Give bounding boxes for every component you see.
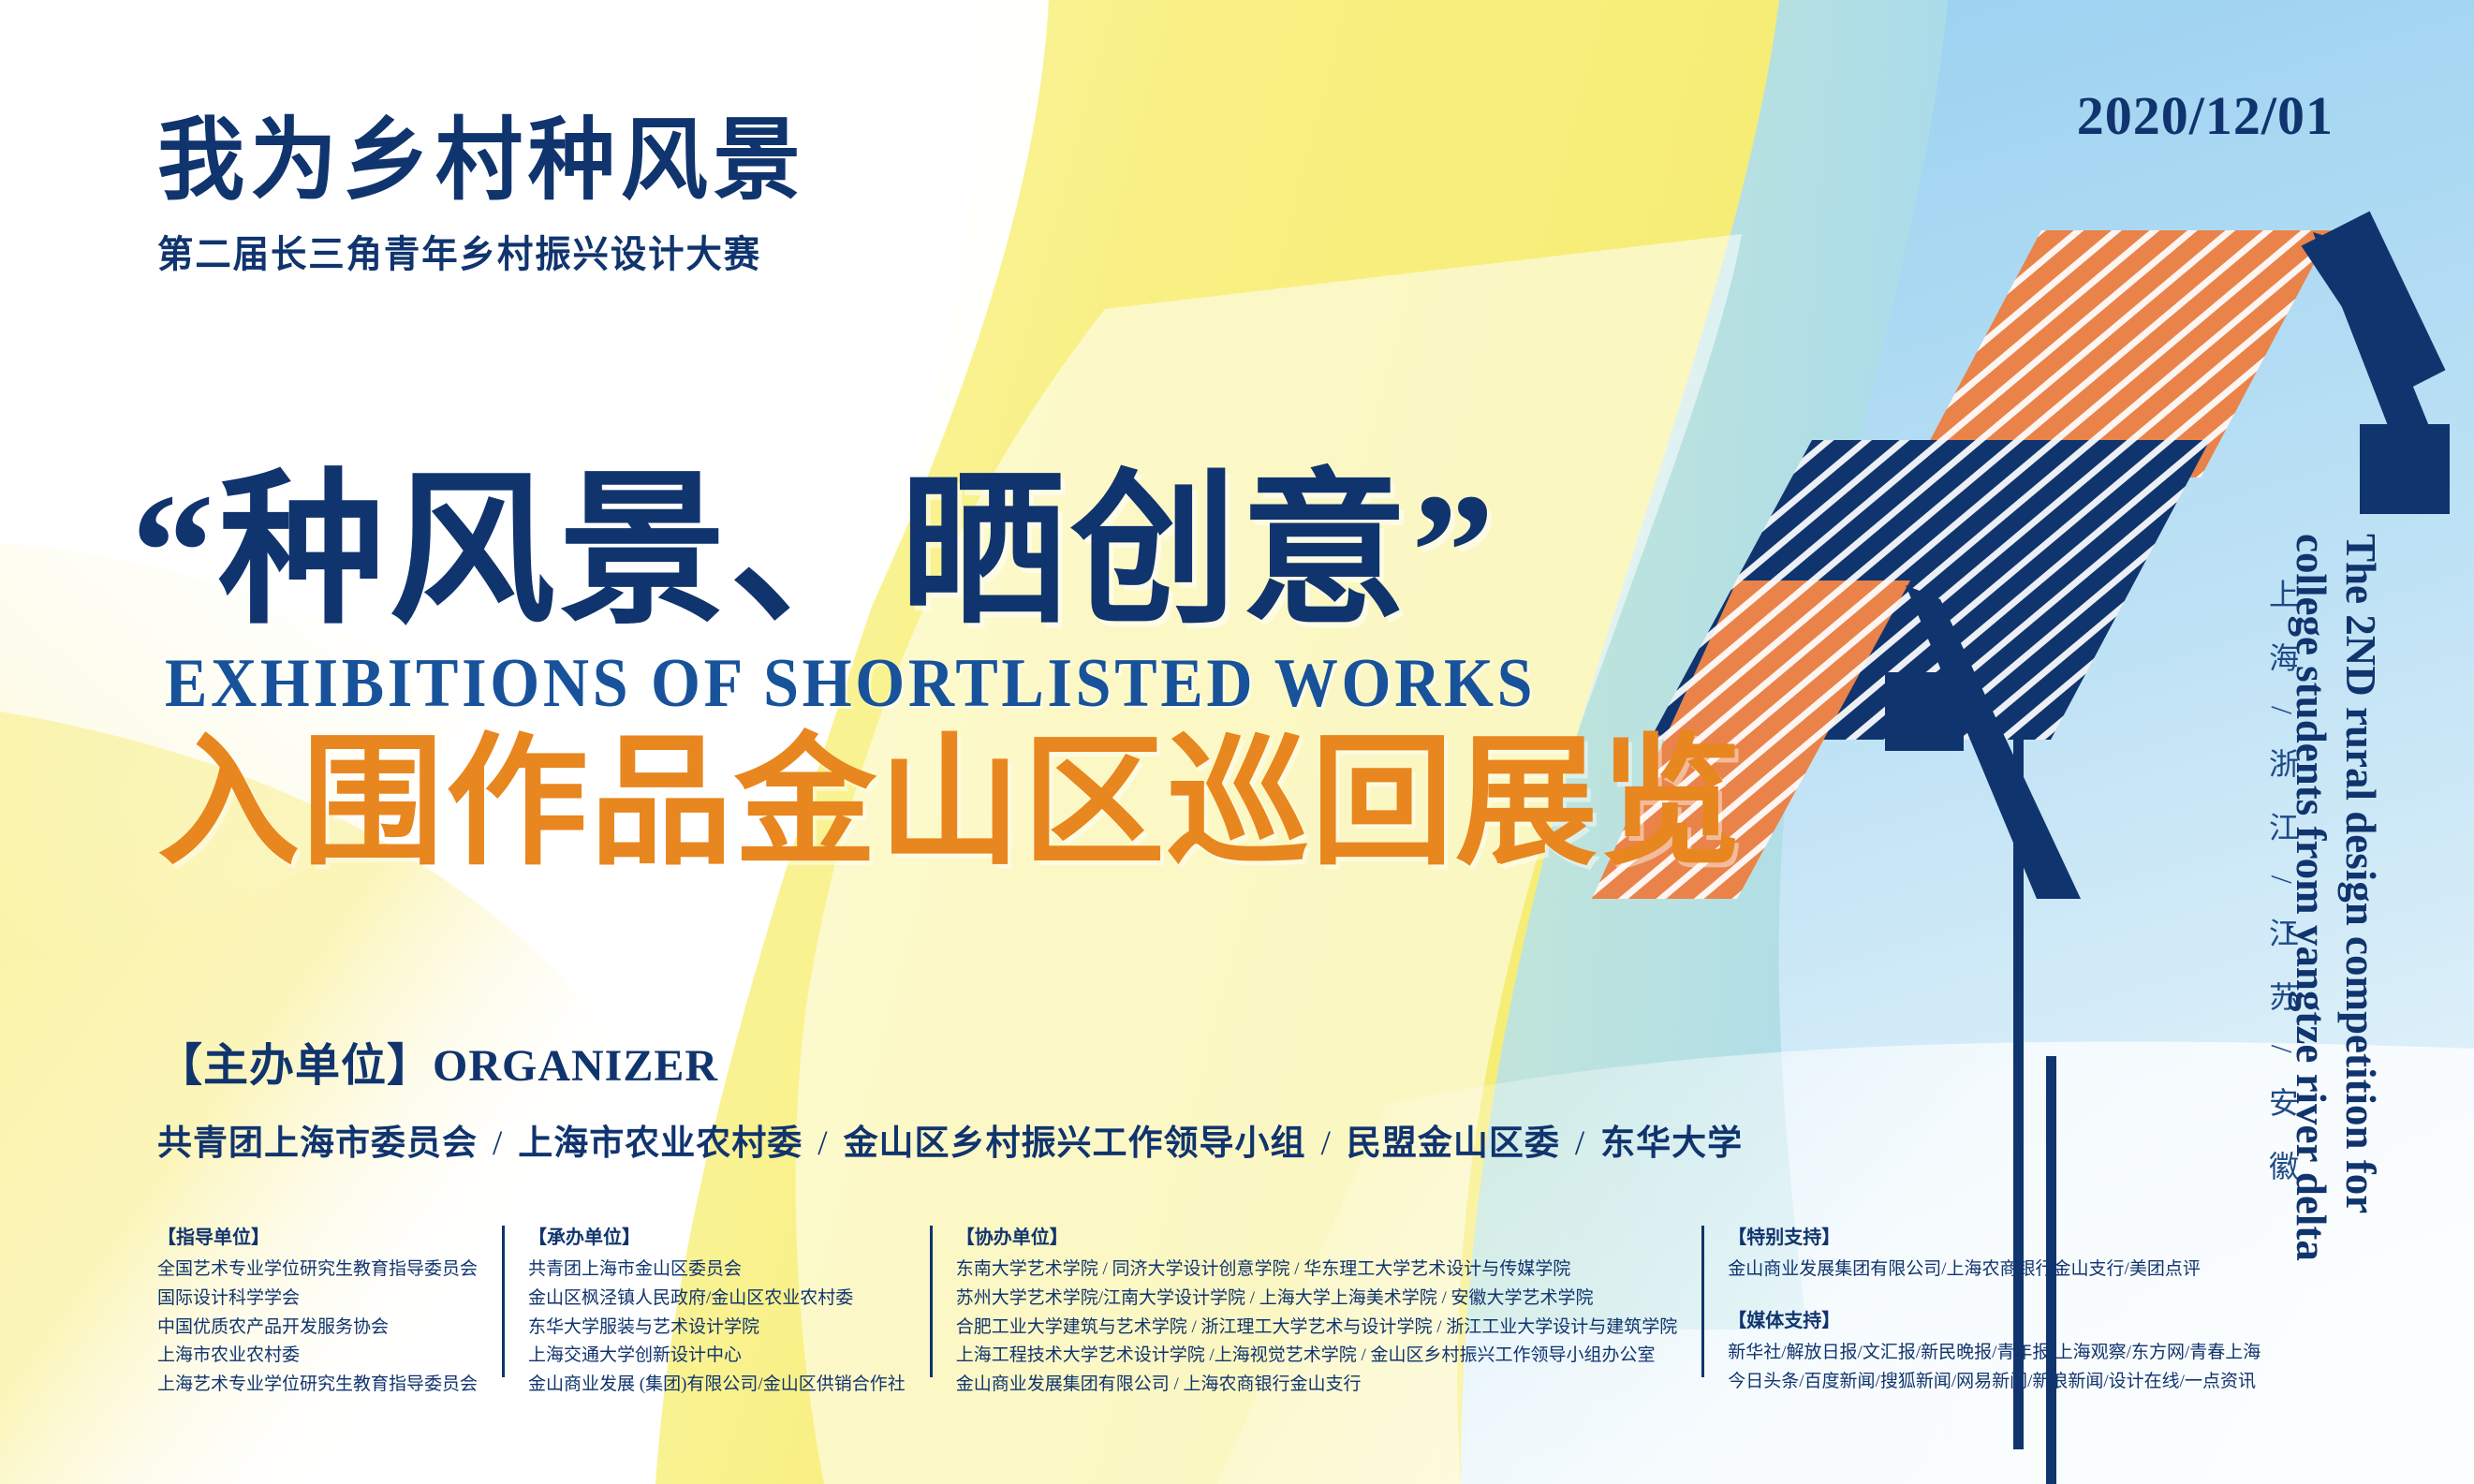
footer-credit-line: 东南大学艺术学院 / 同济大学设计创意学院 / 华东理工大学艺术设计与传媒学院 [956, 1256, 1678, 1285]
side-english-text: The 2ND rural design competition for col… [2286, 534, 2385, 1261]
footer-credit-line: 东华大学服装与艺术设计学院 [528, 1314, 906, 1343]
footer-credit-line: 全国艺术专业学位研究生教育指导委员会 [157, 1256, 478, 1285]
footer-credit-line: 新华社/解放日报/文汇报/新民晚报/青年报/上海观察/东方网/青春上海 [1728, 1339, 2260, 1368]
footer-credit-line: 上海工程技术大学艺术设计学院 /上海视觉艺术学院 / 金山区乡村振兴工作领导小组… [956, 1342, 1678, 1371]
footer-column-heading: 【媒体支持】 [1728, 1305, 2260, 1332]
footer-column-heading: 【指导单位】 [157, 1222, 478, 1249]
footer-credit-line: 上海艺术专业学位研究生教育指导委员会 [157, 1371, 478, 1400]
footer-column-heading: 【承办单位】 [528, 1222, 906, 1249]
footer-credit-line: 金山区枫泾镇人民政府/金山区农业农村委 [528, 1285, 906, 1314]
footer-credit-line: 金山商业发展 (集团)有限公司/金山区供销合作社 [528, 1371, 906, 1400]
headline-block: “种风景、晒创意” EXHIBITIONS OF SHORTLISTED WOR… [131, 468, 1779, 879]
headline-english: EXHIBITIONS OF SHORTLISTED WORKS [165, 644, 1650, 724]
footer-credit-line: 今日头条/百度新闻/搜狐新闻/网易新闻/新浪新闻/设计在线/一点资讯 [1728, 1368, 2260, 1397]
footer-column: 【指导单位】全国艺术专业学位研究生教育指导委员会国际设计科学学会中国优质农产品开… [157, 1222, 502, 1400]
footer-column-heading: 【协办单位】 [956, 1222, 1678, 1249]
headline-chinese-quote: “种风景、晒创意” [131, 468, 1779, 635]
event-date: 2020/12/01 [2077, 84, 2334, 147]
footer-credit-line: 金山商业发展集团有限公司/上海农商银行金山支行/美团点评 [1728, 1256, 2260, 1285]
organizer-name: 上海市农业农村委 [518, 1124, 803, 1163]
organizer-name: 共青团上海市委员会 [157, 1124, 478, 1163]
organizer-name: 东华大学 [1600, 1124, 1743, 1163]
footer-credits: 【指导单位】全国艺术专业学位研究生教育指导委员会国际设计科学学会中国优质农产品开… [157, 1222, 2285, 1400]
organizer-separator: / [478, 1124, 518, 1163]
organizer-separator: / [803, 1124, 843, 1163]
footer-column-heading: 【特别支持】 [1728, 1222, 2260, 1249]
footer-column-divider [502, 1226, 505, 1377]
window-square-bottom [1885, 672, 1964, 751]
footer-credit-line: 上海交通大学创新设计中心 [528, 1342, 906, 1371]
page-title: 我为乡村种风景 [157, 114, 975, 209]
footer-column: 【特别支持】金山商业发展集团有限公司/上海农商银行金山支行/美团点评【媒体支持】… [1701, 1222, 2285, 1396]
footer-credit-line: 合肥工业大学建筑与艺术学院 / 浙江理工大学艺术与设计学院 / 浙江工业大学设计… [956, 1314, 1678, 1343]
footer-column-divider [1701, 1226, 1704, 1377]
footer-credit-line: 共青团上海市金山区委员会 [528, 1256, 906, 1285]
organizer-separator: / [1560, 1124, 1600, 1163]
window-square-top [2360, 424, 2450, 514]
organizer-name: 民盟金山区委 [1347, 1124, 1560, 1163]
footer-column: 【协办单位】东南大学艺术学院 / 同济大学设计创意学院 / 华东理工大学艺术设计… [930, 1222, 1702, 1400]
footer-credit-line: 上海市农业农村委 [157, 1342, 478, 1371]
side-english-line2: college students from yangtze river delt… [2286, 534, 2335, 1261]
organizer-name: 金山区乡村振兴工作领导小组 [844, 1124, 1306, 1163]
organizer-heading: 【主办单位】ORGANIZER [157, 1028, 1796, 1094]
organizer-block: 【主办单位】ORGANIZER 共青团上海市委员会/上海市农业农村委/金山区乡村… [157, 1028, 1796, 1165]
footer-credit-line: 中国优质农产品开发服务协会 [157, 1314, 478, 1343]
brand-block: 我为乡村种风景 第二届长三角青年乡村振兴设计大赛 [157, 114, 1000, 278]
page-subtitle: 第二届长三角青年乡村振兴设计大赛 [157, 224, 966, 278]
footer-column: 【承办单位】共青团上海市金山区委员会金山区枫泾镇人民政府/金山区农业农村委东华大… [502, 1222, 930, 1400]
footer-credit-line: 苏州大学艺术学院/江南大学设计学院 / 上海大学上海美术学院 / 安徽大学艺术学… [956, 1285, 1678, 1314]
organizer-separator: / [1306, 1124, 1347, 1163]
poster-canvas: 2020/12/01 我为乡村种风景 第二届长三角青年乡村振兴设计大赛 “种风景… [0, 0, 2474, 1484]
headline-chinese-main: 入围作品金山区巡回展览 [157, 729, 1779, 879]
side-english-line1: The 2ND rural design competition for [2335, 534, 2385, 1261]
footer-credit-line: 金山商业发展集团有限公司 / 上海农商银行金山支行 [956, 1371, 1678, 1400]
footer-credit-line: 国际设计科学学会 [157, 1285, 478, 1314]
organizer-names: 共青团上海市委员会/上海市农业农村委/金山区乡村振兴工作领导小组/民盟金山区委/… [157, 1114, 1796, 1165]
footer-column-divider [930, 1226, 933, 1377]
